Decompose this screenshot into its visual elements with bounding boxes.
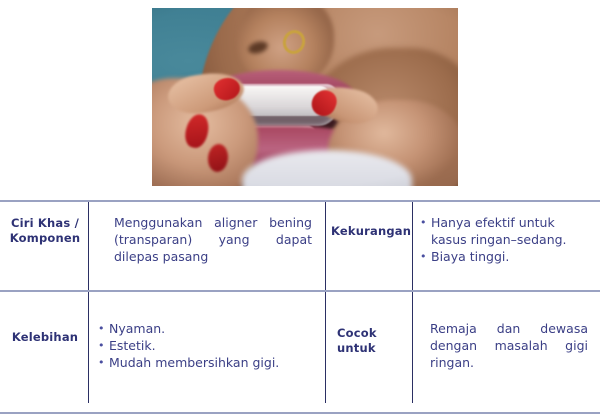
comparison-table: Ciri Khas / Komponen Menggunakan aligner… — [0, 200, 600, 414]
row1-column-divider-2 — [325, 202, 326, 290]
row-value-ciri-khas: Menggunakan aligner bening (transparan) … — [114, 214, 312, 265]
kelebihan-bullet-list: Nyaman. Estetik. Mudah membersihkan gigi… — [98, 320, 308, 371]
table-row-divider — [0, 290, 600, 292]
row-label-ciri-khas-line2: Komponen — [4, 231, 86, 246]
row-label-cocok-untuk: Cocok untuk — [331, 326, 407, 356]
row-label-kekurangan: Kekurangan — [331, 224, 407, 239]
row1-column-divider-1 — [88, 202, 89, 290]
list-item: Estetik. — [98, 337, 308, 354]
list-item: Nyaman. — [98, 320, 308, 337]
list-item: Hanya efektif untuk kasus ringan–sedang. — [420, 214, 588, 248]
row2-column-divider-2 — [325, 292, 326, 403]
row-value-kelebihan: Nyaman. Estetik. Mudah membersihkan gigi… — [98, 320, 308, 371]
row-value-cocok-untuk: Remaja dan dewasa dengan masalah gigi ri… — [430, 320, 588, 371]
row-label-cocok-untuk-line1: Cocok — [337, 326, 407, 341]
row-label-ciri-khas: Ciri Khas / Komponen — [4, 216, 86, 246]
row1-column-divider-3 — [412, 202, 413, 290]
kekurangan-bullet-list: Hanya efektif untuk kasus ringan–sedang.… — [420, 214, 588, 265]
list-item: Biaya tinggi. — [420, 248, 588, 265]
row2-column-divider-1 — [88, 292, 89, 403]
table-top-border — [0, 200, 600, 202]
row2-column-divider-3 — [412, 292, 413, 403]
row-label-kelebihan: Kelebihan — [4, 330, 86, 345]
row-value-kekurangan: Hanya efektif untuk kasus ringan–sedang.… — [420, 214, 588, 265]
photo-vignette — [152, 8, 458, 186]
table-bottom-border — [0, 412, 600, 414]
list-item: Mudah membersihkan gigi. — [98, 354, 308, 371]
row-label-cocok-untuk-line2: untuk — [337, 341, 407, 356]
row-label-ciri-khas-line1: Ciri Khas / — [4, 216, 86, 231]
aligner-photo — [152, 8, 458, 186]
